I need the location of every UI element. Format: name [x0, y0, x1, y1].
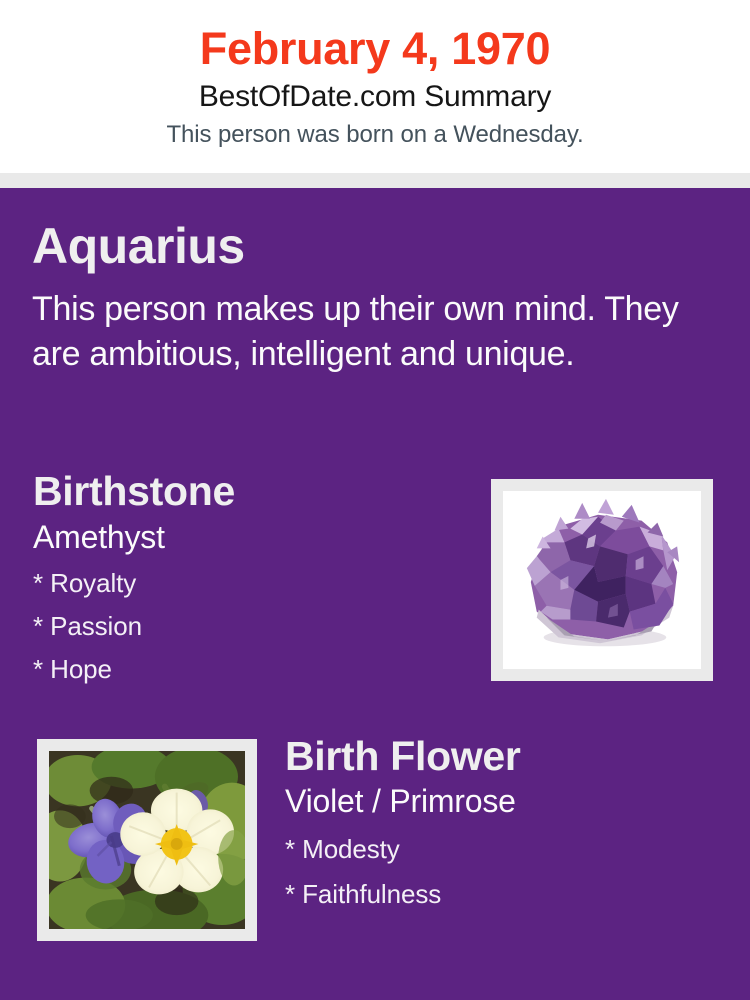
list-item: * Hope	[33, 639, 473, 682]
list-item: * Faithfulness	[285, 862, 715, 907]
amethyst-crystal-photo	[503, 491, 701, 669]
flower-photo-frame	[37, 739, 257, 941]
header-divider	[0, 173, 750, 188]
birth-flower-trait-list: * Modesty * Faithfulness	[285, 817, 715, 907]
site-summary-label: BestOfDate.com Summary	[0, 71, 750, 112]
amethyst-photo-frame	[491, 479, 713, 681]
content-card: Aquarius This person makes up their own …	[0, 188, 750, 1000]
list-item: * Modesty	[285, 817, 715, 862]
birth-flower-heading: Birth Flower	[285, 736, 715, 777]
zodiac-name: Aquarius	[32, 221, 698, 271]
header: February 4, 1970 BestOfDate.com Summary …	[0, 0, 750, 173]
birthstone-section: Birthstone Amethyst * Royalty * Passion …	[33, 471, 473, 682]
summary-card-page: February 4, 1970 BestOfDate.com Summary …	[0, 0, 750, 1000]
birth-flower-name: Violet / Primrose	[285, 777, 715, 817]
birthstone-name: Amethyst	[33, 512, 473, 553]
zodiac-description: This person makes up their own mind. The…	[32, 271, 698, 377]
birthstone-trait-list: * Royalty * Passion * Hope	[33, 553, 473, 682]
birthstone-heading: Birthstone	[33, 471, 473, 512]
violet-primrose-photo	[49, 751, 245, 929]
born-weekday-text: This person was born on a Wednesday.	[0, 112, 750, 147]
page-title: February 4, 1970	[0, 0, 750, 71]
birth-flower-section: Birth Flower Violet / Primrose * Modesty…	[285, 736, 715, 907]
list-item: * Passion	[33, 596, 473, 639]
zodiac-section: Aquarius This person makes up their own …	[32, 221, 698, 377]
amethyst-photo-inner	[503, 491, 701, 669]
list-item: * Royalty	[33, 553, 473, 596]
flower-photo-inner	[49, 751, 245, 929]
